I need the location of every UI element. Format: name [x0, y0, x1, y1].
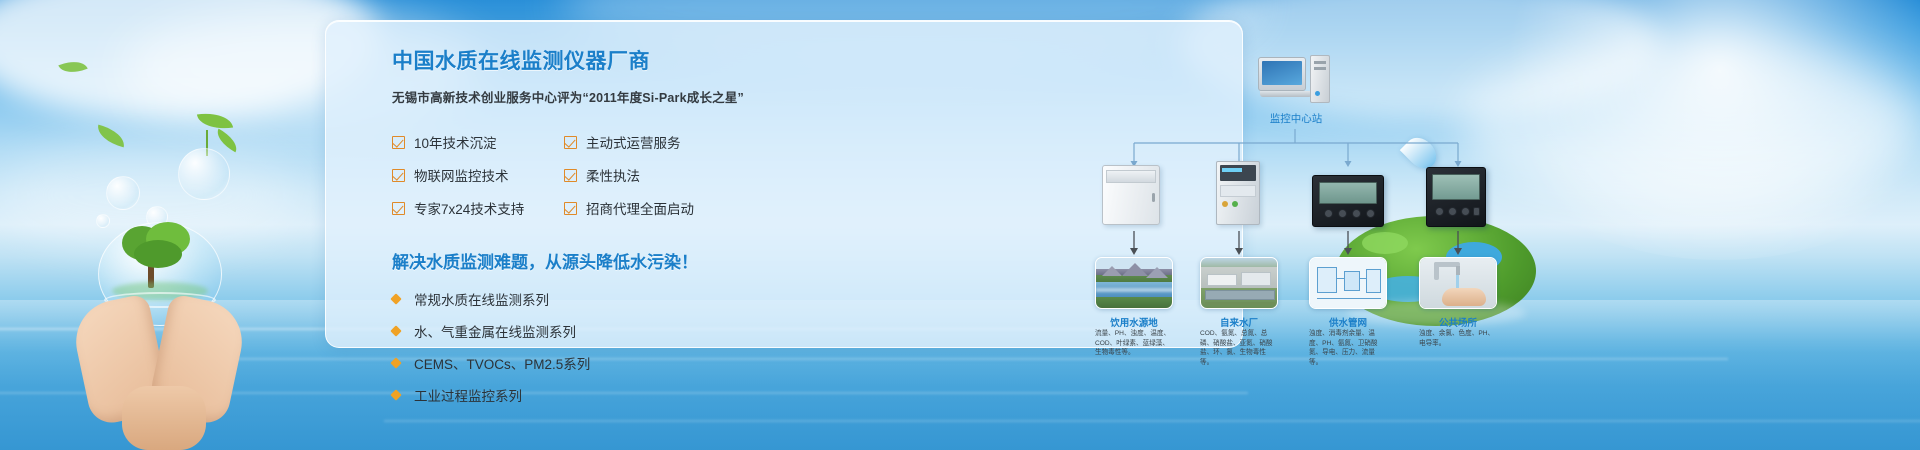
diamond-bullet-icon	[390, 293, 401, 304]
left-text-column: 中国水质在线监测仪器厂商 无锡市高新技术创业服务中心评为“2011年度Si-Pa…	[392, 45, 772, 405]
section-headline: 解决水质监测难题，从源头降低水污染！	[392, 248, 772, 273]
banner-root: 中国水质在线监测仪器厂商 无锡市高新技术创业服务中心评为“2011年度Si-Pa…	[0, 0, 1920, 450]
diamond-bullet-icon	[390, 357, 401, 368]
feature-label: 专家7x24技术支持	[414, 198, 524, 218]
check-icon	[564, 136, 577, 149]
list-item: 常规水质在线监测系列	[392, 289, 772, 309]
diamond-bullet-icon	[390, 389, 401, 400]
feature-label: 招商代理全面启动	[586, 198, 694, 218]
bubble-decor	[106, 176, 140, 210]
device-controller-icon	[1312, 175, 1386, 229]
check-icon	[392, 136, 405, 149]
scene-title: 供水管网	[1293, 315, 1403, 329]
feature-label: 柔性执法	[586, 165, 640, 185]
feature-item: 招商代理全面启动	[564, 198, 772, 218]
device-cabinet-icon	[1102, 165, 1166, 227]
system-diagram: 监控中心站	[1086, 49, 1526, 379]
feature-item: 物联网监控技术	[392, 165, 564, 185]
page-title: 中国水质在线监测仪器厂商	[392, 45, 772, 75]
scene-thumbnail	[1309, 257, 1387, 309]
hands-illustration	[76, 286, 252, 450]
diamond-bullet-icon	[390, 325, 401, 336]
feature-item: 主动式运营服务	[564, 132, 772, 152]
feature-item: 10年技术沉淀	[392, 132, 564, 152]
check-icon	[564, 169, 577, 182]
scene-thumbnail	[1095, 257, 1173, 309]
bubble-decor	[178, 148, 230, 200]
scene-description: COD、氨氮、总氮、总磷、硝酸盐、亚氮、硝酸盐、环、氯、生物毒性等。	[1200, 329, 1278, 367]
product-line-label: CEMS、TVOCs、PM2.5系列	[414, 353, 590, 373]
check-icon	[564, 202, 577, 215]
scene-description: 浊度、消毒剂余量、温度、PH、氨氮、卫硝酸氮、导电、压力、流量等。	[1309, 329, 1387, 367]
scene-title: 公共场所	[1403, 315, 1513, 329]
list-item: 工业过程监控系列	[392, 385, 772, 405]
feature-item: 柔性执法	[564, 165, 772, 185]
feature-label: 主动式运营服务	[586, 132, 681, 152]
feature-item: 专家7x24技术支持	[392, 198, 564, 218]
scene-thumbnail	[1419, 257, 1497, 309]
scene-title: 自来水厂	[1184, 315, 1294, 329]
product-line-list: 常规水质在线监测系列 水、气重金属在线监测系列 CEMS、TVOCs、PM2.5…	[392, 289, 772, 405]
device-controller-tall-icon	[1426, 167, 1490, 229]
page-subtitle: 无锡市高新技术创业服务中心评为“2011年度Si-Park成长之星”	[392, 87, 772, 106]
scene-description: 流量、PH、浊度、温度、COD、叶绿素、蓝绿藻、生物毒性等。	[1095, 329, 1173, 358]
feature-checklist: 10年技术沉淀 主动式运营服务 物联网监控技术 柔性执法 专家7x24技术支持	[392, 132, 772, 218]
list-item: 水、气重金属在线监测系列	[392, 321, 772, 341]
check-icon	[392, 169, 405, 182]
scene-description: 浊度、余氯、色度、PH、电导率。	[1419, 329, 1497, 348]
product-line-label: 水、气重金属在线监测系列	[414, 321, 576, 341]
product-line-label: 工业过程监控系列	[414, 385, 522, 405]
content-panel: 中国水质在线监测仪器厂商 无锡市高新技术创业服务中心评为“2011年度Si-Pa…	[325, 20, 1243, 348]
product-line-label: 常规水质在线监测系列	[414, 289, 549, 309]
feature-label: 10年技术沉淀	[414, 132, 497, 152]
device-rack-icon	[1212, 161, 1270, 227]
list-item: CEMS、TVOCs、PM2.5系列	[392, 353, 772, 373]
scene-title: 饮用水源地	[1079, 315, 1189, 329]
scene-thumbnail	[1200, 257, 1278, 309]
check-icon	[392, 202, 405, 215]
feature-label: 物联网监控技术	[414, 165, 509, 185]
